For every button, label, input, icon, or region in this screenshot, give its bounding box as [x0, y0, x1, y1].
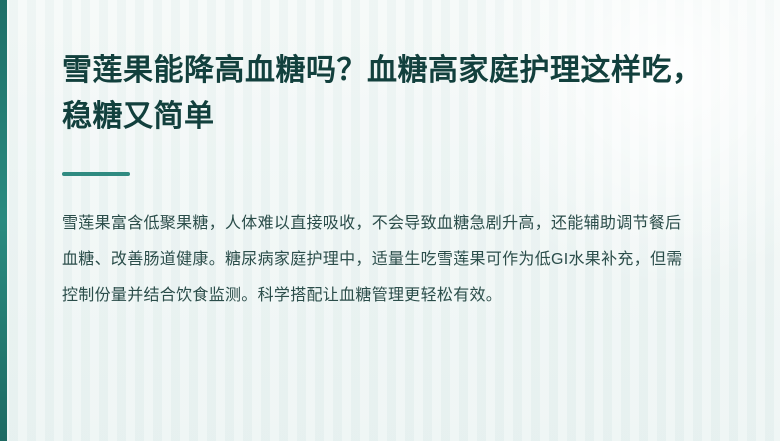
page-title: 雪莲果能降高血糖吗？血糖高家庭护理这样吃，稳糖又简单	[62, 48, 722, 140]
article-card: 雪莲果能降高血糖吗？血糖高家庭护理这样吃，稳糖又简单 雪莲果富含低聚果糖，人体难…	[0, 0, 780, 441]
card-content: 雪莲果能降高血糖吗？血糖高家庭护理这样吃，稳糖又简单 雪莲果富含低聚果糖，人体难…	[0, 0, 780, 314]
title-divider	[62, 172, 130, 176]
body-paragraph: 雪莲果富含低聚果糖，人体难以直接吸收，不会导致血糖急剧升高，还能辅助调节餐后血糖…	[62, 206, 692, 314]
